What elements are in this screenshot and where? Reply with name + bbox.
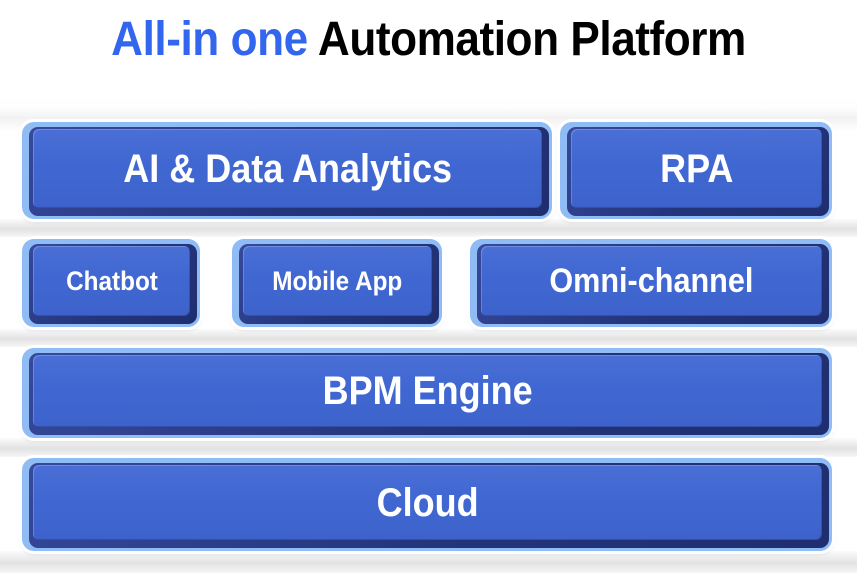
block-label-chatbot: Chatbot	[66, 268, 158, 295]
block-face: Cloud	[33, 465, 822, 540]
block-face: AI & Data Analytics	[33, 129, 542, 208]
block-mobile-app[interactable]: Mobile App	[232, 239, 442, 327]
block-cloud[interactable]: Cloud	[22, 458, 832, 551]
block-face: Omni-channel	[481, 246, 822, 316]
page-title: All-in one Automation Platform	[34, 8, 822, 72]
block-label-rpa: RPA	[660, 149, 733, 189]
block-omni-channel[interactable]: Omni-channel	[470, 239, 832, 327]
block-chatbot[interactable]: Chatbot	[22, 239, 200, 327]
band-bottom	[0, 551, 857, 573]
block-ai-data-analytics[interactable]: AI & Data Analytics	[22, 122, 552, 219]
block-face: RPA	[571, 129, 822, 208]
block-label-ai-data-analytics: AI & Data Analytics	[123, 149, 452, 189]
diagram-canvas: All-in one Automation Platform AI & Data…	[0, 0, 857, 573]
title-plain-text: Automation Platform	[308, 13, 746, 66]
block-label-omni-channel: Omni-channel	[549, 264, 753, 298]
band-row2-row3	[0, 329, 857, 347]
block-bpm-engine[interactable]: BPM Engine	[22, 348, 832, 438]
block-face: BPM Engine	[33, 355, 822, 427]
band-row1-row2	[0, 219, 857, 237]
block-label-mobile-app: Mobile App	[272, 268, 402, 295]
title-accent-text: All-in one	[111, 13, 308, 66]
block-rpa[interactable]: RPA	[560, 122, 832, 219]
block-label-cloud: Cloud	[377, 483, 479, 523]
band-row3-row4	[0, 438, 857, 457]
block-face: Mobile App	[243, 246, 432, 316]
block-label-bpm-engine: BPM Engine	[322, 371, 532, 411]
block-face: Chatbot	[33, 246, 190, 316]
